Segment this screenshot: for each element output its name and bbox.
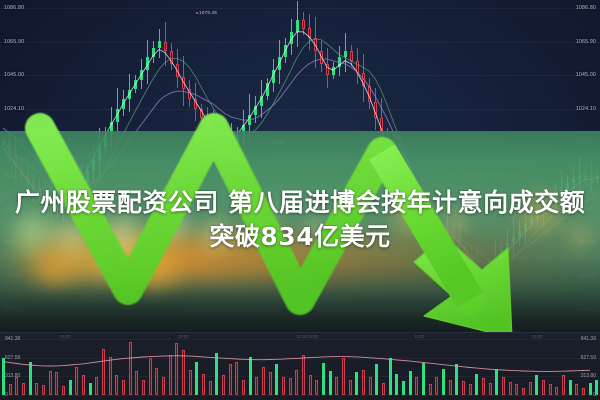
volume-tick-label: 627.59	[5, 355, 20, 361]
volume-tick-label: 0	[5, 392, 8, 398]
volume-overlay-line	[0, 333, 600, 400]
time-tick-label: 14:00	[414, 334, 424, 339]
volume-tick-label: 313.80	[581, 373, 596, 379]
volume-tick-label: 941.39	[581, 336, 596, 342]
time-tick-label: 10:30	[178, 334, 188, 339]
volume-panel: 941.39627.59313.800 941.39627.59313.800	[0, 332, 600, 400]
time-tick-label: 11:30/13:00	[296, 334, 318, 339]
volume-tick-label: 0	[593, 392, 596, 398]
time-tick-label: 15:00	[532, 334, 542, 339]
headline-line-1: 广州股票配资公司 第八届进博会按年计意向成交额	[0, 187, 600, 219]
volume-tick-label: 627.59	[581, 355, 596, 361]
time-tick-label: 09:30	[60, 334, 70, 339]
volume-tick-label: 313.80	[5, 373, 20, 379]
screenshot-root: 1086.801065.901045.001024.101003.20982.3…	[0, 0, 600, 400]
volume-ma-line	[3, 356, 590, 372]
volume-tick-label: 941.39	[5, 336, 20, 342]
headline-line-2: 突破834亿美元	[0, 221, 600, 253]
